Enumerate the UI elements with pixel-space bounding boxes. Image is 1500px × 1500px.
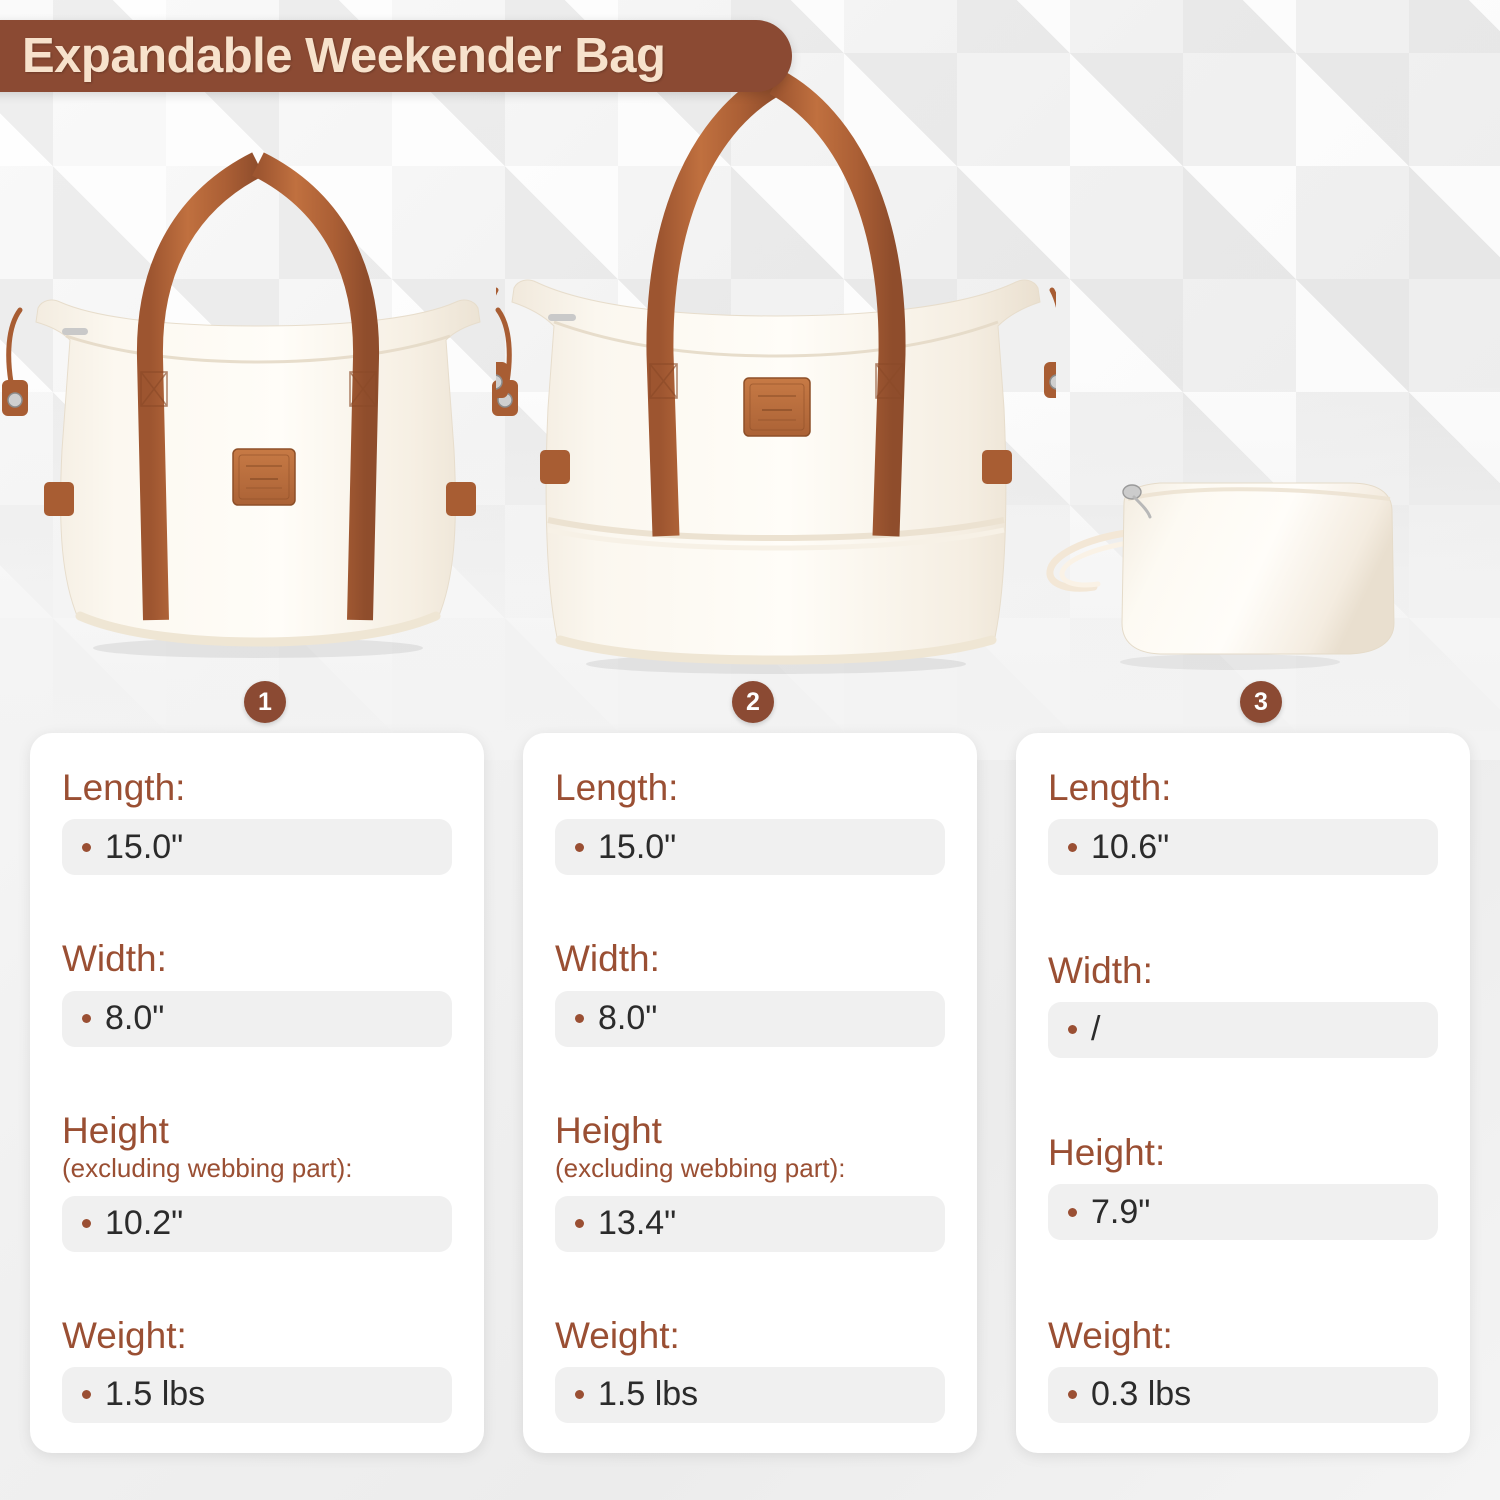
spec-label: Length: (1048, 767, 1438, 808)
leather-patch-icon (233, 449, 295, 505)
expanded-weekender-bag-illustration (496, 68, 1056, 680)
spec-value-text: 13.4" (598, 1204, 676, 1243)
spec-weight: Weight: 1.5 lbs (62, 1315, 452, 1423)
folded-pouch-illustration (1020, 455, 1420, 685)
spec-value-text: 10.6" (1091, 828, 1169, 867)
spec-value-pill: 1.5 lbs (62, 1367, 452, 1423)
spec-length: Length: 15.0" (62, 767, 452, 875)
product-image-stage: 1 2 3 (0, 0, 1500, 700)
spec-width: Width: 8.0" (62, 938, 452, 1046)
bullet-icon (82, 1390, 91, 1399)
spec-width: Width: / (1048, 950, 1438, 1058)
spec-value-pill: 0.3 lbs (1048, 1367, 1438, 1423)
spec-value-text: 15.0" (105, 828, 183, 867)
spec-cards-row: Length: 15.0" Width: 8.0" Height (exclud… (0, 733, 1500, 1453)
spec-value-pill: 1.5 lbs (555, 1367, 945, 1423)
spec-height: Height (excluding webbing part): 13.4" (555, 1110, 945, 1252)
product-badge-1: 1 (244, 681, 286, 723)
spec-label: Height (555, 1110, 945, 1151)
side-tab-right-icon (446, 482, 476, 516)
spec-label: Weight: (62, 1315, 452, 1356)
spec-weight: Weight: 1.5 lbs (555, 1315, 945, 1423)
spec-value-pill: 10.2" (62, 1196, 452, 1252)
side-tab-left-icon (540, 450, 570, 484)
spec-label: Width: (1048, 950, 1438, 991)
spec-weight: Weight: 0.3 lbs (1048, 1315, 1438, 1423)
product-badge-3: 3 (1240, 681, 1282, 723)
page-title: Expandable Weekender Bag (22, 28, 665, 84)
zipper-pull-icon (62, 328, 88, 335)
spec-label: Weight: (1048, 1315, 1438, 1356)
spec-width: Width: 8.0" (555, 938, 945, 1046)
spec-label: Height: (1048, 1132, 1438, 1173)
bullet-icon (1068, 1025, 1077, 1034)
spec-value-pill: 8.0" (62, 991, 452, 1047)
bullet-icon (575, 843, 584, 852)
spec-value-pill: 10.6" (1048, 819, 1438, 875)
spec-label: Height (62, 1110, 452, 1151)
product-image-2 (496, 68, 1056, 680)
wrist-strap-icon (1050, 533, 1126, 588)
bullet-icon (82, 1219, 91, 1228)
bullet-icon (575, 1014, 584, 1023)
spec-value-pill: 7.9" (1048, 1184, 1438, 1240)
spec-value-text: 7.9" (1091, 1193, 1150, 1232)
spec-card-1: Length: 15.0" Width: 8.0" Height (exclud… (30, 733, 484, 1453)
spec-value-text: 15.0" (598, 828, 676, 867)
spec-label: Width: (62, 938, 452, 979)
folded-tote-bag-illustration (0, 150, 520, 680)
spec-height: Height (excluding webbing part): 10.2" (62, 1110, 452, 1252)
product-image-1 (0, 150, 520, 680)
spec-sublabel: (excluding webbing part): (62, 1153, 452, 1184)
spec-card-2: Length: 15.0" Width: 8.0" Height (exclud… (523, 733, 977, 1453)
product-badge-2: 2 (732, 681, 774, 723)
spec-card-3: Length: 10.6" Width: / Height: 7.9" Weig… (1016, 733, 1470, 1453)
bullet-icon (575, 1219, 584, 1228)
spec-value-text: 1.5 lbs (598, 1375, 698, 1414)
spec-value-text: 0.3 lbs (1091, 1375, 1191, 1414)
spec-label: Width: (555, 938, 945, 979)
spec-value-pill: 15.0" (555, 819, 945, 875)
spec-label: Length: (555, 767, 945, 808)
leather-patch-icon (744, 378, 810, 436)
side-tab-left-icon (44, 482, 74, 516)
spec-value-text: 1.5 lbs (105, 1375, 205, 1414)
spec-value-text: 8.0" (598, 999, 657, 1038)
product-image-3 (1020, 455, 1420, 685)
bullet-icon (1068, 1390, 1077, 1399)
snap-tab-icon (9, 310, 20, 388)
spec-sublabel: (excluding webbing part): (555, 1153, 945, 1184)
bullet-icon (1068, 1208, 1077, 1217)
spec-value-pill: 8.0" (555, 991, 945, 1047)
spec-length: Length: 10.6" (1048, 767, 1438, 875)
spec-label: Weight: (555, 1315, 945, 1356)
spec-label: Length: (62, 767, 452, 808)
spec-value-pill: / (1048, 1002, 1438, 1058)
product-shadow (1120, 654, 1340, 670)
spec-value-pill: 15.0" (62, 819, 452, 875)
spec-value-pill: 13.4" (555, 1196, 945, 1252)
spec-value-text: 10.2" (105, 1204, 183, 1243)
spec-value-text: 8.0" (105, 999, 164, 1038)
spec-height: Height: 7.9" (1048, 1132, 1438, 1240)
bullet-icon (575, 1390, 584, 1399)
spec-length: Length: 15.0" (555, 767, 945, 875)
zipper-pull-icon (548, 314, 576, 321)
bullet-icon (82, 843, 91, 852)
bullet-icon (82, 1014, 91, 1023)
side-tab-right-icon (982, 450, 1012, 484)
spec-value-text: / (1091, 1010, 1100, 1049)
bullet-icon (1068, 843, 1077, 852)
header-banner: Expandable Weekender Bag (0, 20, 792, 92)
